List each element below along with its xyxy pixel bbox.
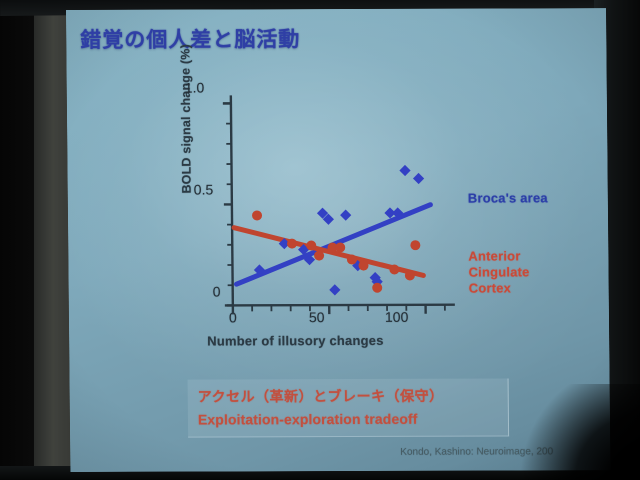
data-point-circle <box>347 255 357 265</box>
data-point-circle <box>410 240 420 250</box>
data-point-circle <box>252 210 262 220</box>
legend-anterior-cingulate-cortex: Anterior Cingulate Cortex <box>468 248 529 296</box>
legend-broca-area: Broca's area <box>468 190 548 206</box>
data-point-circle <box>389 264 399 274</box>
data-point-circle <box>306 241 316 251</box>
data-point-diamond <box>413 173 424 184</box>
data-point-circle <box>314 251 324 261</box>
axes-group <box>223 95 455 315</box>
data-point-circle <box>372 283 382 293</box>
data-points-group <box>252 165 426 296</box>
legend-acc-line-2: Cingulate <box>468 264 529 280</box>
data-point-circle <box>335 242 345 252</box>
x-axis-spine <box>227 305 455 306</box>
data-point-circle <box>405 270 415 280</box>
caption-japanese: アクセル（革新）とブレーキ（保守） <box>198 385 498 406</box>
legend-acc-line-1: Anterior <box>468 248 529 264</box>
data-point-circle <box>287 239 297 249</box>
caption-box: アクセル（革新）とブレーキ（保守） Exploitation-explorati… <box>188 378 510 437</box>
photo-corner-shadow <box>520 384 640 480</box>
plot-canvas <box>187 81 490 372</box>
data-point-diamond <box>340 210 351 221</box>
data-point-diamond <box>329 284 340 295</box>
data-point-circle <box>358 261 368 271</box>
caption-english: Exploitation-exploration tradeoff <box>198 410 498 427</box>
y-axis-spine <box>231 95 233 305</box>
data-point-diamond <box>399 165 410 176</box>
scatter-chart: BOLD signal change (%) Number of illusor… <box>187 81 490 372</box>
legend-acc-line-3: Cortex <box>469 280 530 296</box>
projection-photo: 錯覚の個人差と脳活動 BOLD signal change (%) Number… <box>0 0 640 480</box>
